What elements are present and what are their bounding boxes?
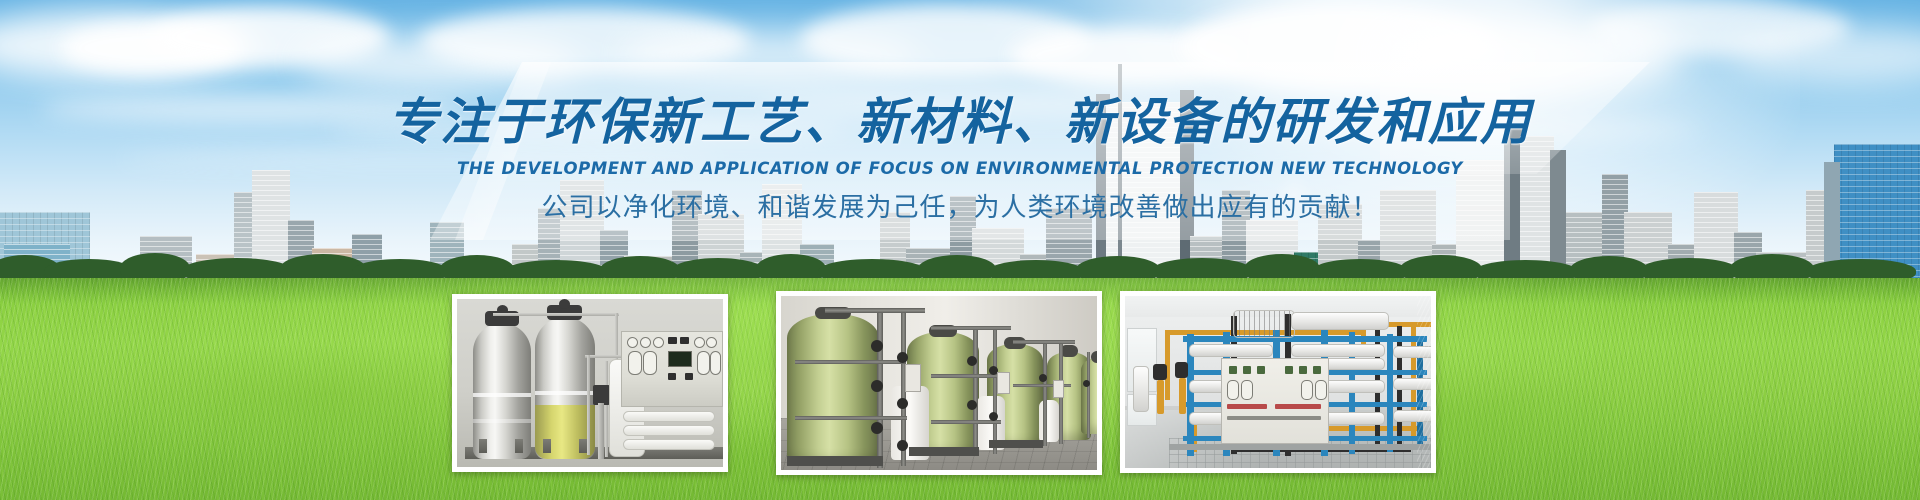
- banner-text-block: 专注于环保新工艺、新材料、新设备的研发和应用 THE DEVELOPMENT A…: [0, 92, 1920, 228]
- product-photo-1[interactable]: [452, 294, 728, 472]
- banner-subheadline-english: THE DEVELOPMENT AND APPLICATION OF FOCUS…: [0, 156, 1920, 182]
- banner-headline: 专注于环保新工艺、新材料、新设备的研发和应用: [0, 92, 1920, 152]
- banner-tagline: 公司以净化环境、和谐发展为己任，为人类环境改善做出应有的贡献！: [0, 188, 1920, 228]
- tree-line: [0, 243, 1920, 283]
- product-photo-2[interactable]: [776, 291, 1102, 475]
- product-photo-1-image: [457, 299, 723, 467]
- hero-banner: 专注于环保新工艺、新材料、新设备的研发和应用 THE DEVELOPMENT A…: [0, 0, 1920, 500]
- product-photo-3[interactable]: [1120, 291, 1436, 473]
- product-photo-2-image: [781, 296, 1097, 470]
- product-photo-3-image: [1125, 296, 1431, 468]
